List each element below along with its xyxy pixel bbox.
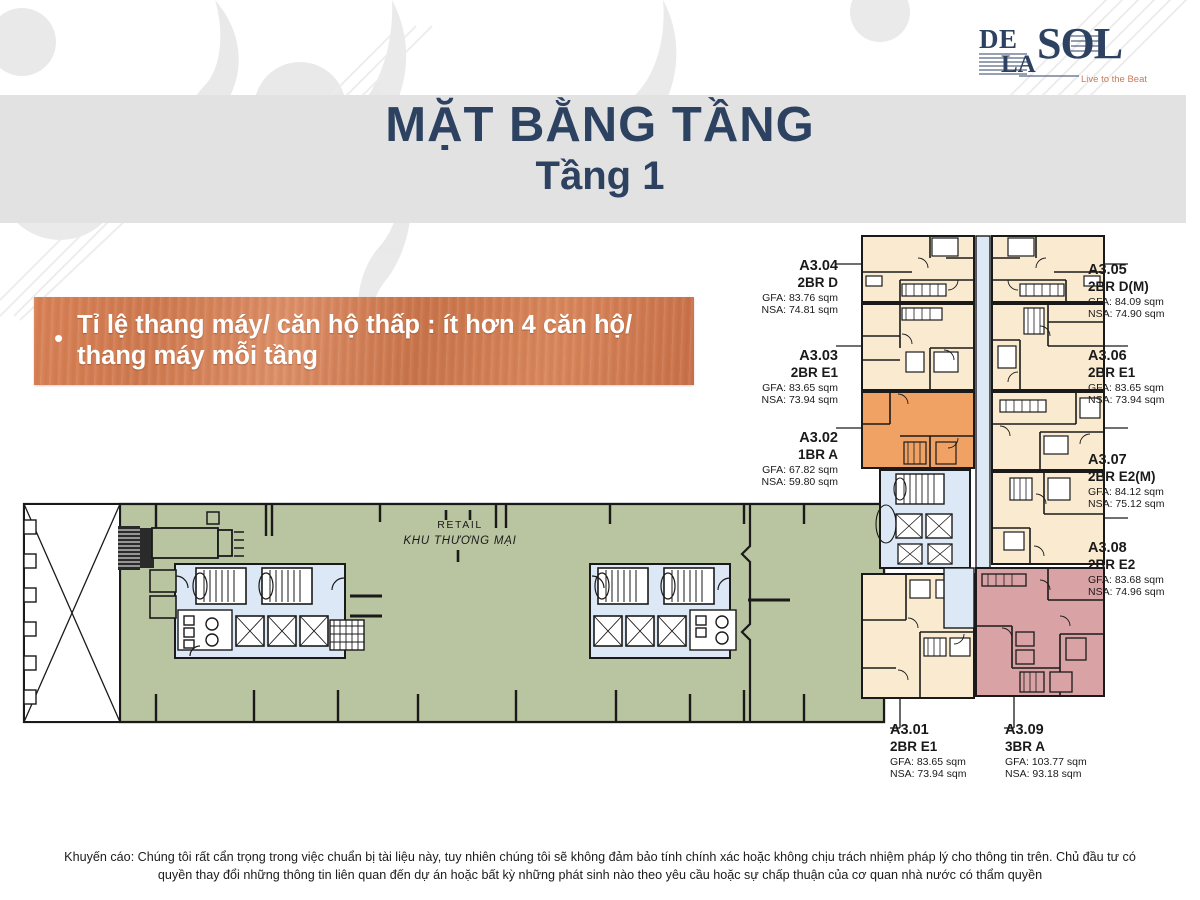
unit-gfa: GFA: 83.76 sqm <box>742 292 838 304</box>
unit-type: 2BR E1 <box>1088 365 1196 380</box>
unit-block-a309 <box>976 568 1104 696</box>
retail-label-vi: KHU THƯƠNG MẠI <box>403 535 516 547</box>
logo-sol: SOL <box>1037 19 1122 68</box>
unit-label-a307: A3.07 2BR E2(M) GFA: 84.12 sqm NSA: 75.1… <box>1088 452 1196 510</box>
callout-text: Tỉ lệ thang máy/ căn hộ thấp : ít hơn 4 … <box>77 310 694 372</box>
unit-label-a308: A3.08 2BR E2 GFA: 83.68 sqm NSA: 74.96 s… <box>1088 540 1196 598</box>
unit-type: 2BR E2 <box>1088 557 1196 572</box>
unit-type: 1BR A <box>742 447 838 462</box>
logo-de: DE <box>979 24 1018 54</box>
brand-logo: DE LA SOL Live to the Beat <box>975 18 1160 86</box>
page-title: MẶT BẰNG TẦNG Tầng 1 <box>0 96 1200 198</box>
unit-type: 2BR E1 <box>742 365 838 380</box>
unit-gfa: GFA: 67.82 sqm <box>742 464 838 476</box>
unit-gfa: GFA: 84.09 sqm <box>1088 296 1196 308</box>
unit-type: 2BR E1 <box>890 739 1000 754</box>
unit-label-a302: A3.02 1BR A GFA: 67.82 sqm NSA: 59.80 sq… <box>742 430 838 488</box>
unit-type: 3BR A <box>1005 739 1123 754</box>
logo-tagline: Live to the Beat <box>1081 74 1147 85</box>
unit-code: A3.03 <box>742 348 838 364</box>
core-one <box>150 564 364 658</box>
tower-core-left <box>876 470 970 568</box>
unit-block-a304 <box>862 236 974 302</box>
title-subtitle-text: Tầng 1 <box>0 152 1200 198</box>
unit-code: A3.08 <box>1088 540 1196 556</box>
unit-gfa: GFA: 83.68 sqm <box>1088 574 1196 586</box>
unit-code: A3.05 <box>1088 262 1196 278</box>
unit-type: 2BR D <box>742 275 838 290</box>
unit-type: 2BR D(M) <box>1088 279 1196 294</box>
unit-nsa: NSA: 75.12 sqm <box>1088 498 1196 510</box>
unit-label-a306: A3.06 2BR E1 GFA: 83.65 sqm NSA: 73.94 s… <box>1088 348 1196 406</box>
retail-podium: RETAIL KHU THƯƠNG MẠI <box>24 504 884 722</box>
unit-label-a309: A3.09 3BR A GFA: 103.77 sqm NSA: 93.18 s… <box>1005 722 1123 780</box>
unit-nsa: NSA: 73.94 sqm <box>742 394 838 406</box>
unit-label-a305: A3.05 2BR D(M) GFA: 84.09 sqm NSA: 74.90… <box>1088 262 1196 320</box>
unit-block-a302 <box>862 392 974 468</box>
unit-nsa: NSA: 74.81 sqm <box>742 304 838 316</box>
core-two <box>590 564 736 658</box>
unit-code: A3.02 <box>742 430 838 446</box>
unit-code: A3.01 <box>890 722 1000 738</box>
unit-label-a303: A3.03 2BR E1 GFA: 83.65 sqm NSA: 73.94 s… <box>742 348 838 406</box>
unit-code: A3.09 <box>1005 722 1123 738</box>
ramp-void <box>24 504 120 722</box>
light-shaft <box>976 236 990 568</box>
unit-code: A3.04 <box>742 258 838 274</box>
unit-gfa: GFA: 83.65 sqm <box>742 382 838 394</box>
unit-nsa: NSA: 59.80 sqm <box>742 476 838 488</box>
lower-lobby <box>944 568 974 628</box>
unit-gfa: GFA: 83.65 sqm <box>1088 382 1196 394</box>
unit-gfa: GFA: 84.12 sqm <box>1088 486 1196 498</box>
unit-type: 2BR E2(M) <box>1088 469 1196 484</box>
disclaimer-text: Khuyến cáo: Chúng tôi rất cẩn trọng tron… <box>0 848 1200 885</box>
retail-label-en: RETAIL <box>437 519 483 531</box>
unit-gfa: GFA: 103.77 sqm <box>1005 756 1123 768</box>
unit-nsa: NSA: 73.94 sqm <box>890 768 1000 780</box>
unit-nsa: NSA: 74.90 sqm <box>1088 308 1196 320</box>
unit-nsa: NSA: 73.94 sqm <box>1088 394 1196 406</box>
title-main-text: MẶT BẰNG TẦNG <box>0 96 1200 152</box>
unit-code: A3.06 <box>1088 348 1196 364</box>
callout-bullet-icon: • <box>54 325 63 351</box>
unit-code: A3.07 <box>1088 452 1196 468</box>
stair-hatch-left <box>118 526 154 570</box>
unit-nsa: NSA: 93.18 sqm <box>1005 768 1123 780</box>
unit-label-a301: A3.01 2BR E1 GFA: 83.65 sqm NSA: 73.94 s… <box>890 722 1000 780</box>
unit-nsa: NSA: 74.96 sqm <box>1088 586 1196 598</box>
unit-gfa: GFA: 83.65 sqm <box>890 756 1000 768</box>
disclaimer-line-2: quyền thay đổi những thông tin liên quan… <box>14 866 1186 884</box>
unit-block-a303 <box>862 304 974 390</box>
feature-callout-box: • Tỉ lệ thang máy/ căn hộ thấp : ít hơn … <box>34 297 694 385</box>
tower-left-stack <box>862 236 974 698</box>
unit-label-a304: A3.04 2BR D GFA: 83.76 sqm NSA: 74.81 sq… <box>742 258 838 316</box>
disclaimer-line-1: Khuyến cáo: Chúng tôi rất cẩn trọng tron… <box>14 848 1186 866</box>
